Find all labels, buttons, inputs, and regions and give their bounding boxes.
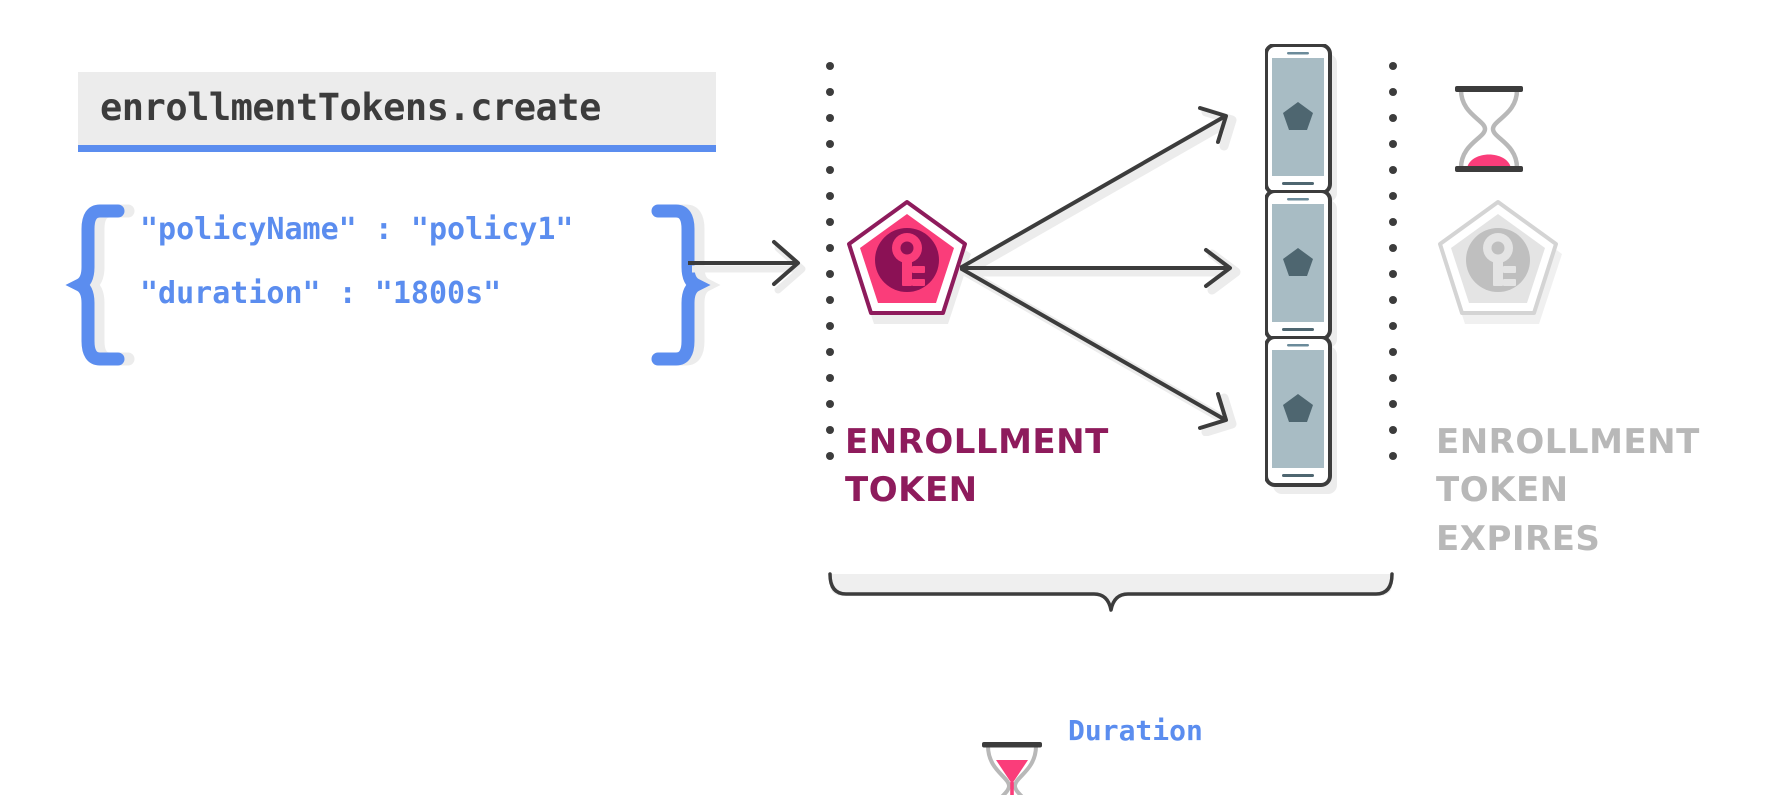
divider-dot <box>1389 114 1397 122</box>
duration-caption-line-1: Duration <box>1068 713 1270 749</box>
phone-device-icon <box>1265 336 1341 496</box>
phone-device-icon <box>1265 190 1341 350</box>
api-method-underline <box>78 145 716 152</box>
dotted-divider-left <box>826 62 834 478</box>
divider-dot <box>1389 270 1397 278</box>
hourglass-empty-icon <box>1449 84 1529 174</box>
phone-device-icon <box>1265 44 1341 204</box>
expires-label-line-2: TOKEN <box>1436 466 1700 514</box>
request-body-line-2: "duration" : "1800s" <box>140 279 573 309</box>
expires-label-line-1: ENROLLMENT <box>1436 418 1700 466</box>
expired-key-pentagon-icon <box>1436 196 1566 326</box>
api-method-name: enrollmentTokens.create <box>78 72 716 145</box>
divider-dot <box>826 218 834 226</box>
divider-dot <box>826 166 834 174</box>
divider-dot <box>1389 192 1397 200</box>
divider-dot <box>1389 348 1397 356</box>
divider-dot <box>826 270 834 278</box>
divider-dot <box>1389 374 1397 382</box>
divider-dot <box>1389 296 1397 304</box>
request-body-block: "policyName" : "policy1" "duration" : "1… <box>78 205 698 365</box>
duration-text: Duration 1800 seconds <box>1068 640 1270 795</box>
enrollment-token-expires-label: ENROLLMENT TOKEN EXPIRES <box>1436 418 1700 563</box>
duration-caption: Duration 1800 seconds <box>978 640 1270 795</box>
duration-span-brace <box>826 570 1396 620</box>
divider-dot <box>1389 426 1397 434</box>
divider-dot <box>826 114 834 122</box>
request-body-line-1: "policyName" : "policy1" <box>140 215 573 245</box>
divider-dot <box>826 374 834 382</box>
request-body-lines: "policyName" : "policy1" "duration" : "1… <box>140 215 573 309</box>
divider-dot <box>826 322 834 330</box>
diagram-canvas: enrollmentTokens.create "policyName" : "… <box>0 0 1789 795</box>
divider-dot <box>826 192 834 200</box>
divider-dot <box>1389 62 1397 70</box>
divider-dot <box>826 348 834 356</box>
hourglass-flowing-icon <box>978 740 1046 795</box>
divider-dot <box>826 88 834 96</box>
divider-dot <box>826 400 834 408</box>
divider-dot <box>1389 244 1397 252</box>
divider-dot <box>826 140 834 148</box>
divider-dot <box>1389 140 1397 148</box>
divider-dot <box>1389 218 1397 226</box>
open-brace-icon <box>78 205 134 365</box>
dotted-divider-right <box>1389 62 1397 478</box>
enrollment-token-label-line-2: TOKEN <box>845 466 1109 514</box>
divider-dot <box>1389 88 1397 96</box>
expires-label-line-3: EXPIRES <box>1436 515 1700 563</box>
divider-dot <box>826 426 834 434</box>
key-pentagon-icon <box>845 196 975 326</box>
divider-dot <box>826 296 834 304</box>
divider-dot <box>826 452 834 460</box>
divider-dot <box>826 244 834 252</box>
divider-dot <box>1389 166 1397 174</box>
divider-dot <box>1389 400 1397 408</box>
divider-dot <box>1389 322 1397 330</box>
token-to-devices-arrows <box>960 96 1250 436</box>
divider-dot <box>826 62 834 70</box>
request-to-token-arrow <box>688 238 820 300</box>
api-method-header: enrollmentTokens.create <box>78 72 716 152</box>
divider-dot <box>1389 452 1397 460</box>
